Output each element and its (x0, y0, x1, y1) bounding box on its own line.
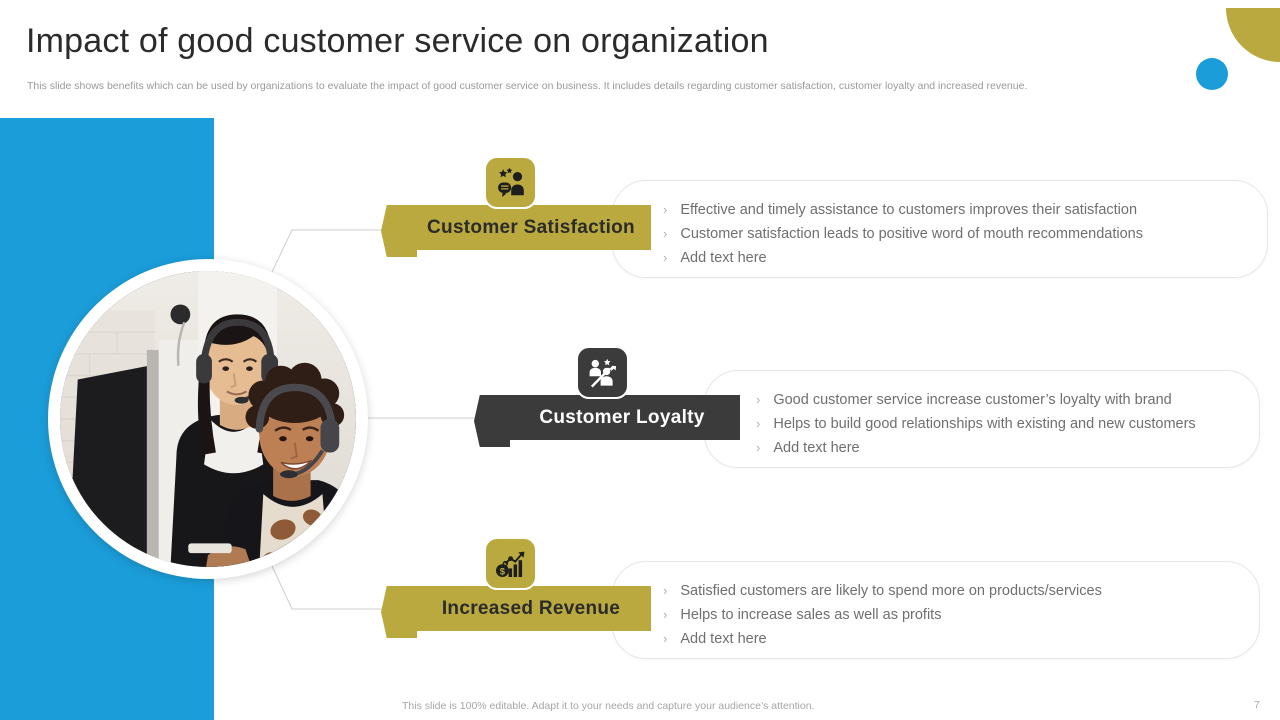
label-text-increased-revenue: Increased Revenue (442, 598, 620, 620)
bullet-text: Helps to increase sales as well as profi… (680, 606, 941, 625)
quarter-circle-decoration (1226, 8, 1280, 62)
list-item: › Good customer service increase custome… (756, 390, 1196, 410)
label-bar-customer-loyalty[interactable]: Customer Loyalty (504, 395, 740, 440)
page-title: Impact of good customer service on organ… (26, 22, 769, 61)
avatar (48, 259, 368, 579)
chevron-right-icon: › (663, 629, 667, 648)
bullet-list-3: › Satisfied customers are likely to spen… (663, 581, 1102, 653)
label-text-customer-loyalty: Customer Loyalty (539, 407, 704, 429)
bullet-text: Effective and timely assistance to custo… (680, 201, 1137, 220)
page-subtitle: This slide shows benefits which can be u… (27, 80, 1177, 94)
revenue-chart-icon: $ (484, 537, 537, 590)
bullet-text: Add text here (680, 249, 766, 268)
chevron-right-icon: › (663, 605, 667, 624)
bullet-list-2: › Good customer service increase custome… (756, 390, 1196, 462)
list-item: › Helps to increase sales as well as pro… (663, 605, 1102, 625)
label-bar-customer-satisfaction[interactable]: Customer Satisfaction (411, 205, 651, 250)
photo-clip (60, 271, 356, 567)
bullet-text: Customer satisfaction leads to positive … (680, 225, 1143, 244)
chevron-right-icon: › (756, 390, 760, 409)
call-center-photo (60, 271, 356, 567)
list-item: › Add text here (663, 248, 1143, 268)
list-item: › Customer satisfaction leads to positiv… (663, 224, 1143, 244)
footer-note: This slide is 100% editable. Adapt it to… (402, 700, 815, 712)
chevron-right-icon: › (663, 224, 667, 243)
list-item: › Add text here (756, 438, 1196, 458)
chevron-right-icon: › (756, 438, 760, 457)
label-text-customer-satisfaction: Customer Satisfaction (427, 217, 635, 239)
bullet-text: Add text here (773, 439, 859, 458)
customer-feedback-icon (484, 156, 537, 209)
svg-text:$: $ (499, 565, 505, 576)
list-item: › Effective and timely assistance to cus… (663, 200, 1143, 220)
slide-root: Impact of good customer service on organ… (0, 0, 1280, 720)
list-item: › Helps to build good relationships with… (756, 414, 1196, 434)
bullet-text: Helps to build good relationships with e… (773, 415, 1195, 434)
chevron-right-icon: › (663, 581, 667, 600)
bullet-text: Satisfied customers are likely to spend … (680, 582, 1102, 601)
page-number: 7 (1254, 699, 1260, 711)
customer-growth-icon (576, 346, 629, 399)
blue-dot-decoration (1196, 58, 1228, 90)
chevron-right-icon: › (663, 248, 667, 267)
bullet-text: Good customer service increase customer’… (773, 391, 1171, 410)
bullet-list-1: › Effective and timely assistance to cus… (663, 200, 1143, 272)
label-bar-increased-revenue[interactable]: Increased Revenue (411, 586, 651, 631)
bullet-text: Add text here (680, 630, 766, 649)
chevron-right-icon: › (663, 200, 667, 219)
chevron-right-icon: › (756, 414, 760, 433)
list-item: › Satisfied customers are likely to spen… (663, 581, 1102, 601)
list-item: › Add text here (663, 629, 1102, 649)
